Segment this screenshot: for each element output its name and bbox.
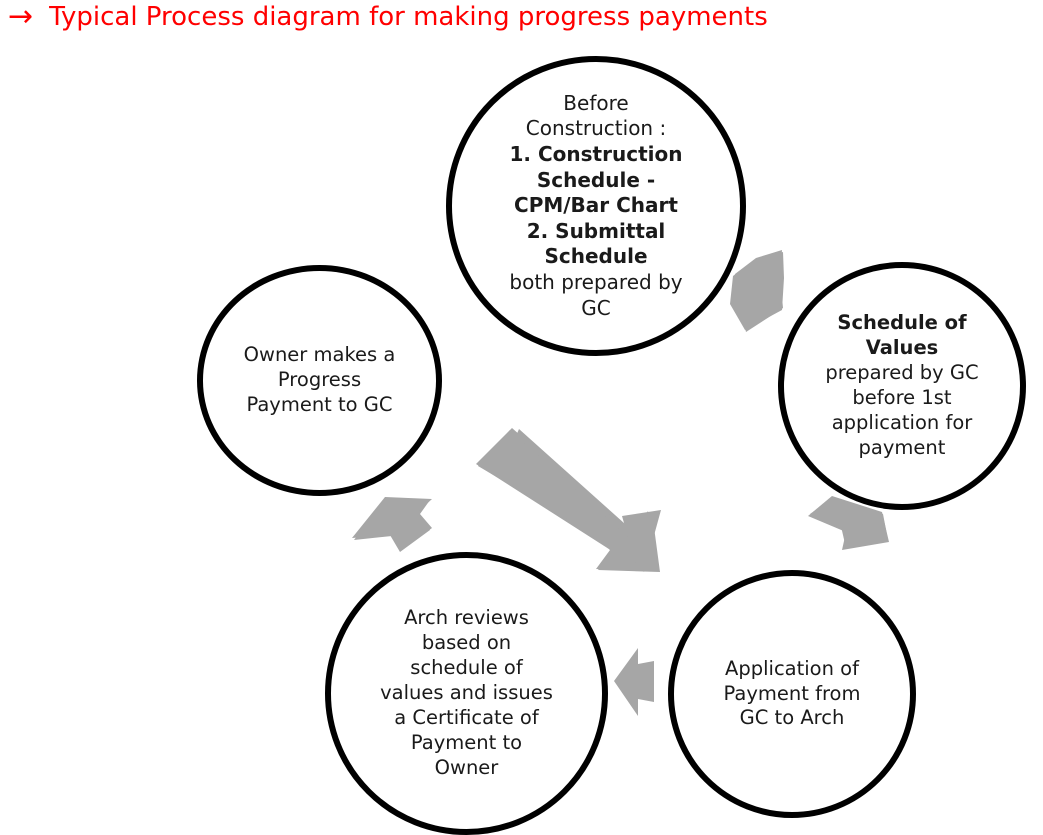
node-arch-reviews[interactable]: Arch reviewsbased onschedule ofvalues an… — [325, 552, 608, 835]
node-before-construction[interactable]: BeforeConstruction :1. ConstructionSched… — [446, 56, 746, 356]
node-owner-progress-payment[interactable]: Owner makes aProgressPayment to GC — [197, 265, 442, 496]
node-arch-reviews-text: Arch reviewsbased onschedule ofvalues an… — [374, 606, 559, 781]
node-owner-progress-payment-text: Owner makes aProgressPayment to GC — [238, 343, 402, 418]
bullet-arrow-icon: → — [8, 2, 33, 32]
node-schedule-of-values-text: Schedule ofValuesprepared by GCbefore 1s… — [819, 311, 984, 461]
node-schedule-of-values[interactable]: Schedule ofValuesprepared by GCbefore 1s… — [778, 262, 1026, 510]
node-application-of-payment[interactable]: Application ofPayment fromGC to Arch — [668, 570, 916, 818]
node-application-of-payment-text: Application ofPayment fromGC to Arch — [718, 657, 867, 732]
process-diagram-page: → Typical Process diagram for making pro… — [0, 0, 1043, 835]
node-before-construction-text: BeforeConstruction :1. ConstructionSched… — [503, 91, 688, 321]
page-title: Typical Process diagram for making progr… — [49, 3, 768, 32]
page-title-row: → Typical Process diagram for making pro… — [8, 2, 768, 32]
